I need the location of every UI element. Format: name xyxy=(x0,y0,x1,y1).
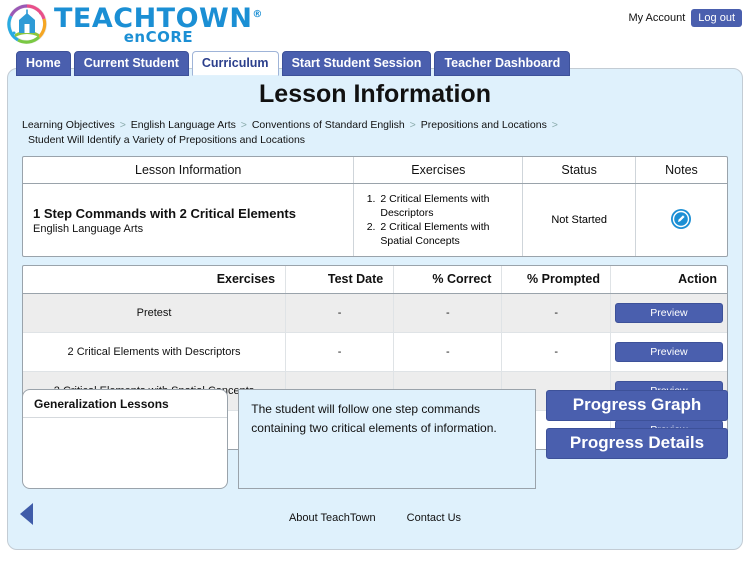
col-action: Action xyxy=(610,266,727,294)
breadcrumb-item[interactable]: Learning Objectives xyxy=(22,119,115,131)
preview-button[interactable]: Preview xyxy=(615,303,723,323)
cell-exercises: 2 Critical Elements with Descriptors2 Cr… xyxy=(354,184,523,257)
tab-home[interactable]: Home xyxy=(16,51,71,76)
registered-mark-icon: ® xyxy=(252,9,263,20)
breadcrumb-item[interactable]: English Language Arts xyxy=(131,119,236,131)
cell-test-date: - xyxy=(286,294,394,333)
table-header-row: Lesson Information Exercises Status Note… xyxy=(23,157,727,184)
table-header-row: Exercises Test Date % Correct % Prompted… xyxy=(23,266,727,294)
lesson-subject: English Language Arts xyxy=(33,223,347,235)
cell-action: Preview xyxy=(610,333,727,372)
tab-start-student-session[interactable]: Start Student Session xyxy=(282,51,432,76)
cell-lesson-information: 1 Step Commands with 2 Critical Elements… xyxy=(23,184,354,257)
progress-details-button[interactable]: Progress Details xyxy=(546,428,728,459)
breadcrumb-item[interactable]: Prepositions and Locations xyxy=(421,119,547,131)
tab-current-student[interactable]: Current Student xyxy=(74,51,189,76)
table-row: Pretest---Preview xyxy=(23,294,727,333)
contact-us-link[interactable]: Contact Us xyxy=(407,512,461,524)
col-exercises: Exercises xyxy=(354,157,523,184)
teachtown-schoolhouse-icon xyxy=(6,3,48,45)
cell-pct-correct: - xyxy=(394,333,502,372)
page-title: Lesson Information xyxy=(8,80,742,109)
cell-pct-correct: - xyxy=(394,294,502,333)
cell-notes xyxy=(635,184,727,257)
breadcrumb: Learning Objectives > English Language A… xyxy=(22,118,722,148)
progress-buttons: Progress Graph Progress Details xyxy=(546,389,728,489)
main-content-card: Lesson Information Learning Objectives >… xyxy=(7,68,743,550)
tab-curriculum[interactable]: Curriculum xyxy=(192,51,279,76)
lesson-exercise-list: 2 Critical Elements with Descriptors2 Cr… xyxy=(360,192,516,248)
col-test-date: Test Date xyxy=(286,266,394,294)
list-item: 2 Critical Elements with Descriptors xyxy=(378,192,516,220)
col-exercises: Exercises xyxy=(23,266,286,294)
brand-wordmark: TEACHTOWN® enCORE xyxy=(54,3,263,45)
breadcrumb-separator: > xyxy=(115,119,131,131)
cell-action: Preview xyxy=(610,294,727,333)
lesson-name: 1 Step Commands with 2 Critical Elements xyxy=(33,206,347,221)
table-row: 1 Step Commands with 2 Critical Elements… xyxy=(23,184,727,257)
col-pct-correct: % Correct xyxy=(394,266,502,294)
lesson-description: The student will follow one step command… xyxy=(238,389,536,489)
progress-graph-button[interactable]: Progress Graph xyxy=(546,390,728,421)
breadcrumb-current: Student Will Identify a Variety of Prepo… xyxy=(22,133,722,148)
edit-note-icon[interactable] xyxy=(670,208,692,233)
tab-teacher-dashboard[interactable]: Teacher Dashboard xyxy=(434,51,570,76)
main-navigation: HomeCurrent StudentCurriculumStart Stude… xyxy=(16,51,570,76)
lesson-information-table: Lesson Information Exercises Status Note… xyxy=(22,156,728,257)
cell-status: Not Started xyxy=(523,184,636,257)
col-lesson-information: Lesson Information xyxy=(23,157,354,184)
cell-pct-prompted: - xyxy=(502,294,611,333)
cell-test-date: - xyxy=(286,333,394,372)
about-teachtown-link[interactable]: About TeachTown xyxy=(289,512,376,524)
list-item: 2 Critical Elements with Spatial Concept… xyxy=(378,220,516,248)
logout-button[interactable]: Log out xyxy=(691,9,742,27)
account-area: My Account Log out xyxy=(628,9,742,27)
col-status: Status xyxy=(523,157,636,184)
preview-button[interactable]: Preview xyxy=(615,342,723,362)
generalization-lessons-box: Generalization Lessons xyxy=(22,389,228,489)
breadcrumb-item[interactable]: Conventions of Standard English xyxy=(252,119,405,131)
col-pct-prompted: % Prompted xyxy=(502,266,611,294)
breadcrumb-separator: > xyxy=(547,119,560,131)
top-bar: TEACHTOWN® enCORE My Account Log out xyxy=(0,0,750,48)
table-row: 2 Critical Elements with Descriptors---P… xyxy=(23,333,727,372)
status-badge: Not Started xyxy=(551,214,607,226)
cell-pct-prompted: - xyxy=(502,333,611,372)
breadcrumb-separator: > xyxy=(405,119,421,131)
app-root: TEACHTOWN® enCORE My Account Log out Hom… xyxy=(0,0,750,562)
breadcrumb-separator: > xyxy=(236,119,252,131)
cell-exercise-name: Pretest xyxy=(23,294,286,333)
col-notes: Notes xyxy=(635,157,727,184)
my-account-link[interactable]: My Account xyxy=(628,12,685,24)
footer: About TeachTown Contact Us xyxy=(8,512,742,524)
bottom-section: Generalization Lessons The student will … xyxy=(22,389,728,489)
cell-exercise-name: 2 Critical Elements with Descriptors xyxy=(23,333,286,372)
brand-logo[interactable]: TEACHTOWN® enCORE xyxy=(6,3,263,45)
generalization-lessons-title: Generalization Lessons xyxy=(23,390,227,418)
